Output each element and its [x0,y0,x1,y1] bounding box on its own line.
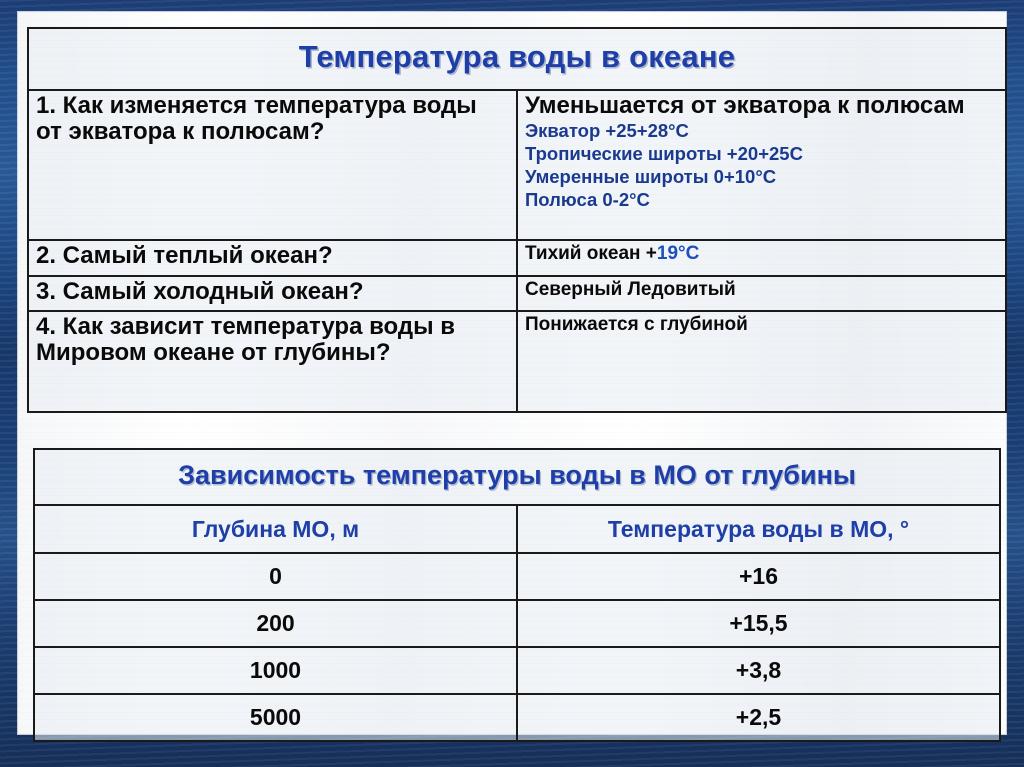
column-header-depth: Глубина МО, м [34,505,517,553]
question-3: 3. Самый холодный океан? [28,276,517,311]
table-row: 0 +16 [34,553,1000,600]
cell-depth-1: 200 [34,600,517,647]
answer-1-detail-equator: Экватор +25+28°С [525,121,998,142]
answer-2: Тихий океан +19°С [517,240,1006,276]
answer-1-detail-tropics: Тропические широты +20+25С [525,144,998,165]
cell-depth-2: 1000 [34,647,517,694]
table-row: 2. Самый теплый океан? Тихий океан +19°С [28,240,1006,276]
question-2: 2. Самый теплый океан? [28,240,517,276]
answer-1-detail-temperate: Умеренные широты 0+10°С [525,167,998,188]
answer-2-prefix: Тихий океан + [525,243,657,264]
table-row: 200 +15,5 [34,600,1000,647]
depth-temperature-table: Зависимость температуры воды в МО от глу… [33,448,1001,742]
question-4: 4. Как зависит температура воды в Мирово… [28,311,517,412]
table-row: 1000 +3,8 [34,647,1000,694]
table-row-title: Зависимость температуры воды в МО от глу… [34,449,1000,505]
answer-3: Северный Ледовитый [517,276,1006,311]
answer-1-detail-poles: Полюса 0-2°С [525,190,998,211]
slide-content-panel: Температура воды в океане 1. Как изменяе… [18,12,1006,734]
answer-4-text: Понижается с глубиной [525,314,998,336]
column-header-temperature: Температура воды в МО, ° [517,505,1000,553]
answer-1-head: Уменьшается от экватора к полюсам [525,93,998,119]
question-1: 1. Как изменяется температура воды от эк… [28,90,517,240]
answer-2-value: 19°С [657,243,699,264]
table-row: 4. Как зависит температура воды в Мирово… [28,311,1006,412]
cell-temp-2: +3,8 [517,647,1000,694]
cell-temp-1: +15,5 [517,600,1000,647]
slide: Температура воды в океане 1. Как изменяе… [0,0,1024,767]
table-row-title: Температура воды в океане [28,28,1006,90]
cell-depth-0: 0 [34,553,517,600]
depth-table-title: Зависимость температуры воды в МО от глу… [34,449,1000,505]
questions-table: Температура воды в океане 1. Как изменяе… [27,27,1007,413]
cell-temp-3: +2,5 [517,694,1000,741]
cell-temp-0: +16 [517,553,1000,600]
page-title: Температура воды в океане [28,28,1006,90]
table-row: 3. Самый холодный океан? Северный Ледови… [28,276,1006,311]
table-row: 1. Как изменяется температура воды от эк… [28,90,1006,240]
table-row: 5000 +2,5 [34,694,1000,741]
answer-1: Уменьшается от экватора к полюсам Эквато… [517,90,1006,240]
answer-2-text: Тихий океан +19°С [525,243,998,265]
answer-4: Понижается с глубиной [517,311,1006,412]
table-header-row: Глубина МО, м Температура воды в МО, ° [34,505,1000,553]
cell-depth-3: 5000 [34,694,517,741]
answer-3-text: Северный Ледовитый [525,279,998,301]
